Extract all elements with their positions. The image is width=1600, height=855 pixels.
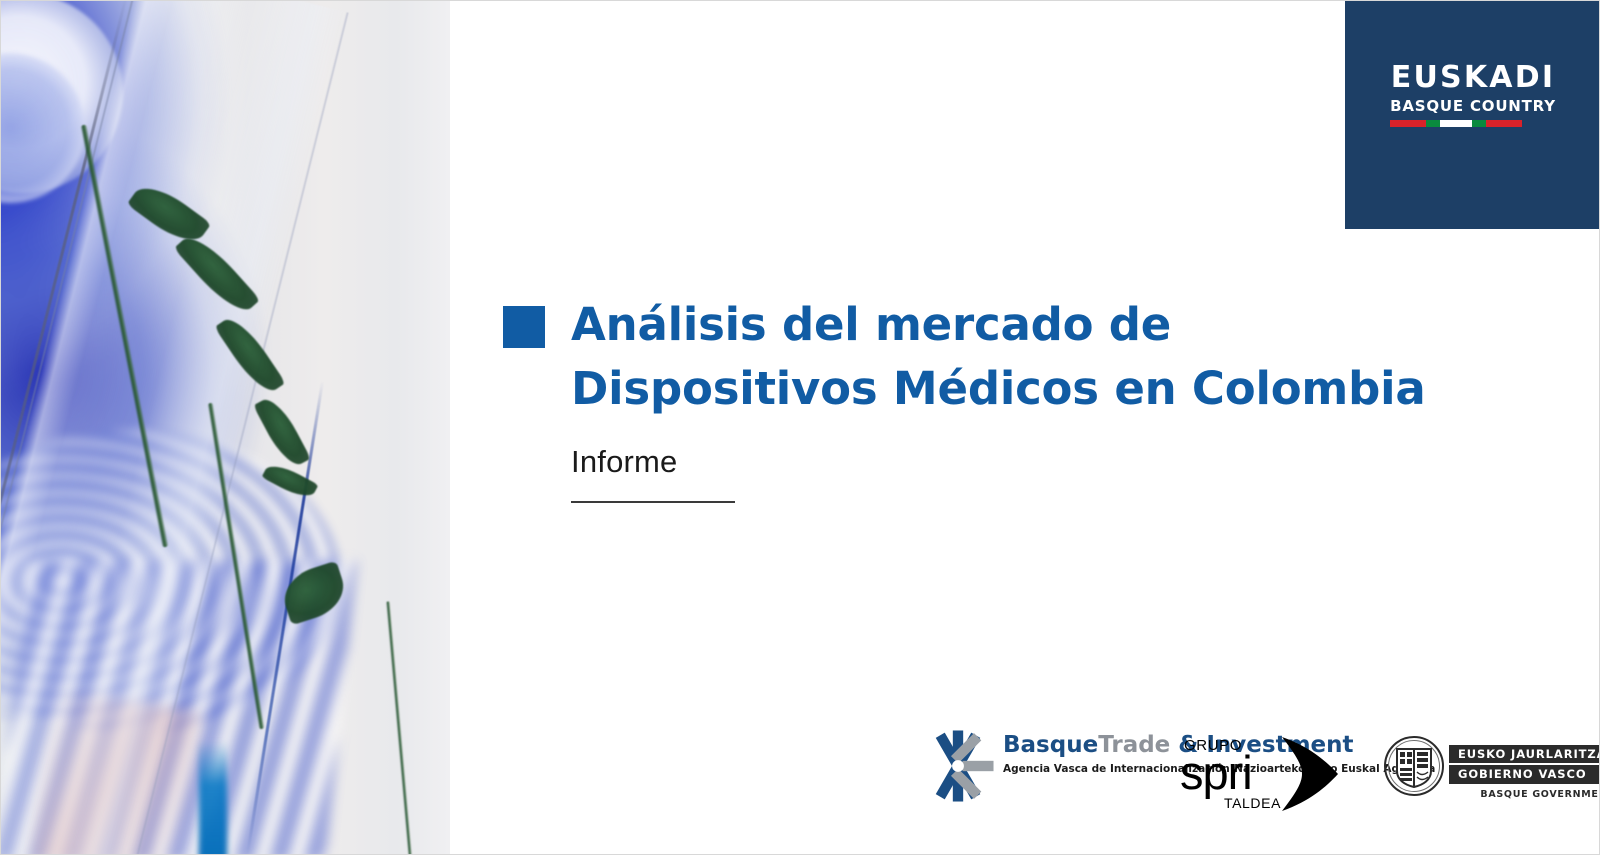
eusko-jaurlaritza-line-en: BASQUE GOVERNMENT bbox=[1449, 789, 1600, 800]
eusko-jaurlaritza-wordmark: EUSKO JAURLARITZA GOBIERNO VASCO BASQUE … bbox=[1449, 735, 1600, 800]
footer-logo-row: BasqueTrade & Investment Agencia Vasca d… bbox=[921, 727, 1581, 817]
page-title-line1: Análisis del mercado de bbox=[571, 293, 1426, 357]
title-row: Análisis del mercado de Dispositivos Méd… bbox=[503, 293, 1523, 422]
page-title: Análisis del mercado de Dispositivos Méd… bbox=[571, 293, 1426, 422]
eusko-jaurlaritza-line-eu: EUSKO JAURLARITZA bbox=[1449, 745, 1600, 763]
flag-segment-red-left bbox=[1390, 120, 1426, 127]
euskadi-subtitle: BASQUE COUNTRY bbox=[1390, 99, 1556, 114]
flag-segment-green-right bbox=[1472, 120, 1487, 127]
spri-label-taldea: TALDEA bbox=[1224, 795, 1281, 811]
euskadi-logo: EUSKADI BASQUE COUNTRY bbox=[1390, 63, 1556, 127]
spri-logo: GRUPO spri TALDEA bbox=[1176, 733, 1336, 813]
euskadi-wordmark: EUSKADI bbox=[1390, 63, 1556, 93]
eusko-jaurlaritza-line-es: GOBIERNO VASCO bbox=[1449, 765, 1600, 783]
spri-wordmark: spri bbox=[1180, 749, 1252, 796]
flag-segment-white bbox=[1440, 120, 1472, 127]
document-subtitle: Informe bbox=[571, 444, 678, 480]
flag-segment-green-left bbox=[1426, 120, 1441, 127]
cyan-vertical-bar bbox=[199, 741, 227, 855]
basque-trade-line1: BasqueTrade bbox=[1003, 732, 1178, 758]
basque-government-coat-of-arms-icon bbox=[1383, 735, 1445, 797]
cover-photo bbox=[1, 1, 450, 855]
basque-flag-stripe bbox=[1390, 120, 1522, 127]
subtitle-underline bbox=[571, 501, 735, 503]
basque-trade-word-basque: Basque bbox=[1003, 732, 1098, 758]
spri-arrow-icon bbox=[1280, 735, 1340, 818]
basque-trade-word-trade: Trade bbox=[1098, 732, 1170, 758]
report-cover-page: EUSKADI BASQUE COUNTRY Análisis del merc… bbox=[0, 0, 1600, 855]
flag-segment-red-right bbox=[1486, 120, 1522, 127]
basque-trade-asterisk-icon bbox=[921, 729, 995, 803]
euskadi-logo-block: EUSKADI BASQUE COUNTRY bbox=[1345, 1, 1600, 229]
page-title-line2: Dispositivos Médicos en Colombia bbox=[571, 357, 1426, 421]
title-block: Análisis del mercado de Dispositivos Méd… bbox=[503, 293, 1523, 422]
eusko-jaurlaritza-logo: EUSKO JAURLARITZA GOBIERNO VASCO BASQUE … bbox=[1383, 735, 1600, 800]
title-bullet-square bbox=[503, 306, 545, 348]
